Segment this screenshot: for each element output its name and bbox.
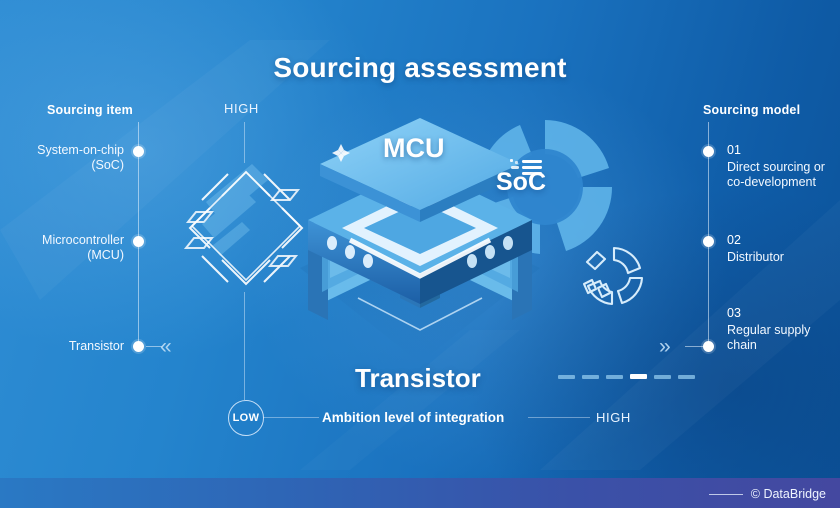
right-axis-item-01-line2: co-development (727, 175, 837, 190)
left-axis-item-transistor-line1: Transistor (0, 339, 124, 354)
dash-segment-2 (582, 375, 599, 379)
right-chevron-icon: » (659, 336, 671, 357)
dash-segment-6 (678, 375, 695, 379)
dash-segment-3 (606, 375, 623, 379)
left-axis-dot-1[interactable] (133, 146, 144, 157)
right-axis-header: Sourcing model (703, 103, 800, 117)
right-axis-item-01-number: 01 (727, 143, 837, 158)
infographic-canvas: Sourcing assessment Sourcing item System… (0, 0, 840, 508)
right-axis-dot-2[interactable] (703, 236, 714, 247)
left-axis-item-soc-line1: System-on-chip (0, 143, 124, 158)
left-axis-dot-3[interactable] (133, 341, 144, 352)
page-title: Sourcing assessment (0, 52, 840, 84)
credit-rule (709, 494, 743, 495)
left-axis-item-transistor[interactable]: Transistor (0, 339, 124, 354)
dash-segment-1 (558, 375, 575, 379)
right-axis-item-03-line2: chain (727, 338, 839, 353)
left-axis-item-mcu[interactable]: Microcontroller (MCU) (0, 233, 124, 263)
right-axis-item-01[interactable]: 01 Direct sourcing or co-development (727, 143, 837, 190)
left-axis-item-mcu-line1: Microcontroller (0, 233, 124, 248)
right-axis-item-03-number: 03 (727, 306, 839, 321)
right-axis-item-03-line1: Regular supply (727, 323, 839, 338)
credit-text: © DataBridge (751, 487, 826, 501)
left-axis-item-soc[interactable]: System-on-chip (SoC) (0, 143, 124, 173)
segmented-ring-icon (578, 240, 650, 312)
bottom-axis-title: Ambition level of integration (322, 410, 504, 425)
bottom-axis-low-marker[interactable]: LOW (228, 400, 264, 436)
left-axis-header: Sourcing item (47, 103, 133, 117)
bottom-axis-line-right (528, 417, 590, 418)
left-axis-dot-2[interactable] (133, 236, 144, 247)
sparkle-icon (331, 143, 351, 163)
right-axis-item-02-line1: Distributor (727, 250, 837, 265)
right-axis-dot-1[interactable] (703, 146, 714, 157)
left-axis-item-soc-line2: (SoC) (0, 158, 124, 173)
left-chevron-icon: « (160, 336, 172, 357)
credit: © DataBridge (709, 487, 826, 501)
right-axis-item-02-number: 02 (727, 233, 837, 248)
right-axis-dot-3[interactable] (703, 341, 714, 352)
bottom-axis-high-label: HIGH (596, 410, 631, 425)
vertical-axis-line-lower (244, 292, 245, 400)
mcu-label: MCU (383, 133, 445, 164)
bottom-axis-line-left (263, 417, 319, 418)
dash-segment-4-active (630, 374, 647, 379)
right-axis-item-03[interactable]: 03 Regular supply chain (727, 306, 839, 353)
right-axis-item-02[interactable]: 02 Distributor (727, 233, 837, 265)
dash-indicator-row (558, 374, 695, 379)
transistor-label: Transistor (355, 363, 481, 394)
dash-segment-5 (654, 375, 671, 379)
right-chevron-connector (685, 346, 703, 347)
left-axis-item-mcu-line2: (MCU) (0, 248, 124, 263)
right-axis-item-01-line1: Direct sourcing or (727, 160, 837, 175)
vertical-axis-high-label: HIGH (224, 101, 259, 116)
soc-label: SoC (496, 168, 546, 197)
